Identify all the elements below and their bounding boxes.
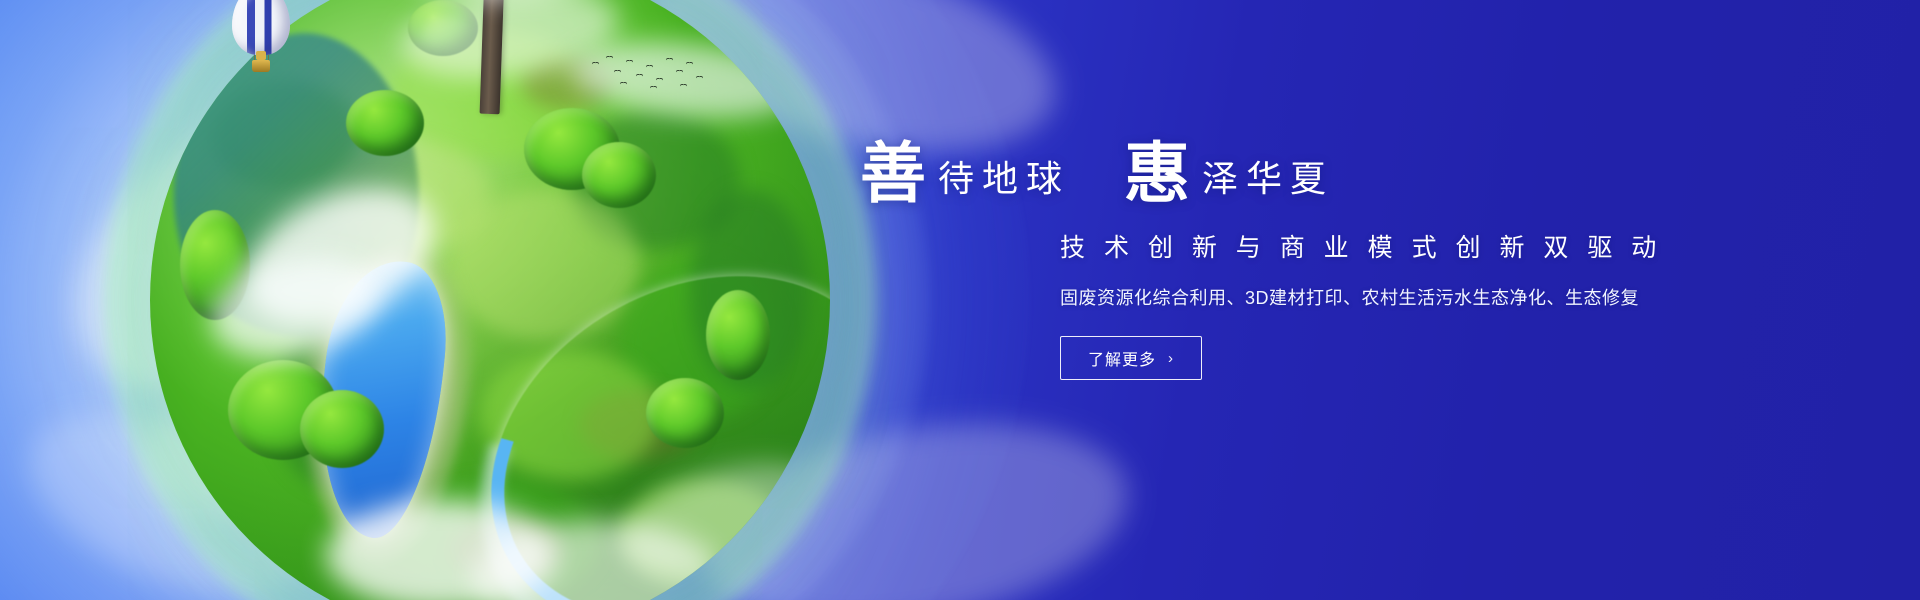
headline-lead-1: 善 xyxy=(860,140,928,206)
tree-canopy xyxy=(646,378,724,448)
page-title: 善 待地球 惠 泽华夏 xyxy=(860,140,1760,206)
learn-more-label: 了解更多 xyxy=(1088,346,1156,370)
balloon-envelope xyxy=(232,0,290,55)
tree-canopy xyxy=(300,390,384,468)
hero-tagline: 固废资源化综合利用、3D建材打印、农村生活污水生态净化、生态修复 xyxy=(1060,284,1760,310)
hero-content: 善 待地球 惠 泽华夏 技 术 创 新 与 商 业 模 式 创 新 双 驱 动 … xyxy=(1060,140,1760,380)
hot-air-balloon-icon xyxy=(232,0,290,80)
tree-canopy xyxy=(346,90,424,156)
tree-canopy xyxy=(706,290,770,380)
headline-rest-2: 泽华夏 xyxy=(1202,162,1334,206)
chevron-right-icon: › xyxy=(1168,350,1174,367)
tree-canopy xyxy=(582,142,656,208)
flying-birds-icon xyxy=(590,56,710,96)
learn-more-button[interactable]: 了解更多 › xyxy=(1060,336,1202,380)
headline-rest-1: 待地球 xyxy=(938,162,1070,206)
balloon-neck xyxy=(256,51,266,60)
balloon-basket xyxy=(252,60,270,72)
hero-subtitle: 技 术 创 新 与 商 业 模 式 创 新 双 驱 动 xyxy=(1060,228,1760,264)
hero-banner: 善 待地球 惠 泽华夏 技 术 创 新 与 商 业 模 式 创 新 双 驱 动 … xyxy=(0,0,1920,600)
earth-planet-illustration xyxy=(150,0,830,600)
headline-lead-2: 惠 xyxy=(1124,140,1192,206)
